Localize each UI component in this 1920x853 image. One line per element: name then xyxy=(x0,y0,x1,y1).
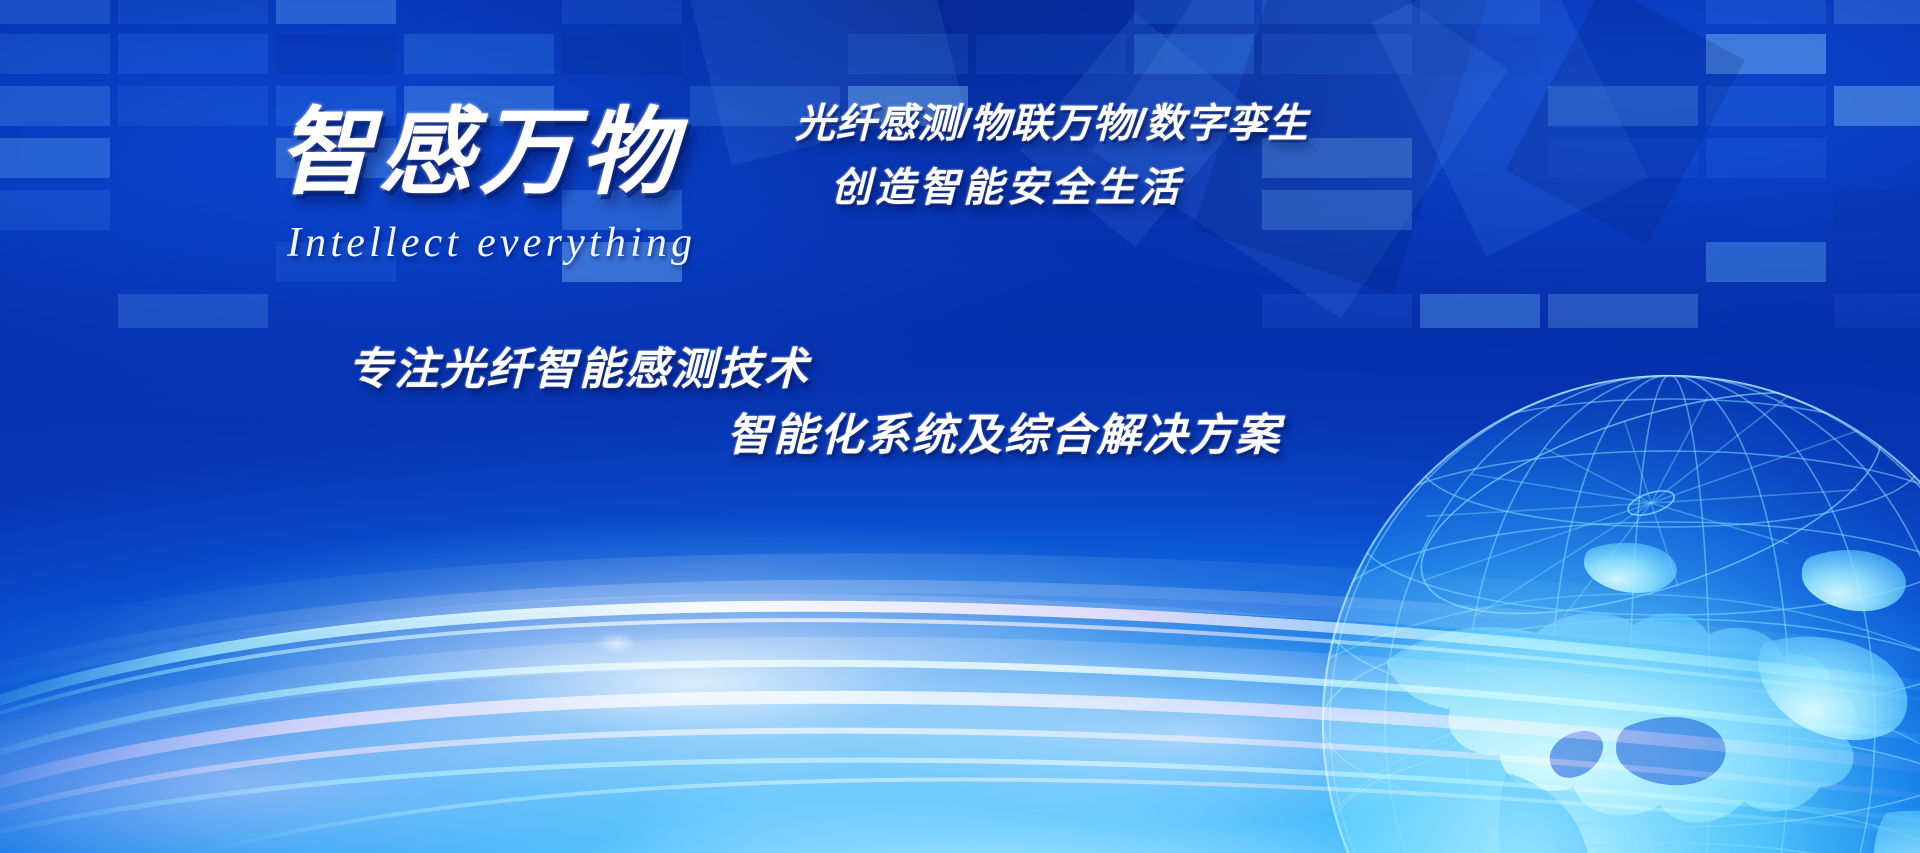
headline-english: Intellect everything xyxy=(287,222,696,264)
tagline-services: 光纤感测/物联万物/数字孪生 xyxy=(795,104,1308,144)
banner-canvas: 智感万物 Intellect everything 光纤感测/物联万物/数字孪生… xyxy=(0,0,1920,853)
tagline-slogan: 创造智能安全生活 xyxy=(831,168,1183,208)
message-focus-technology: 专注光纤智能感测技术 xyxy=(348,348,810,392)
message-solutions: 智能化系统及综合解决方案 xyxy=(727,414,1281,458)
banner-content: 智感万物 Intellect everything 光纤感测/物联万物/数字孪生… xyxy=(0,0,1920,853)
headline-chinese: 智感万物 xyxy=(278,106,681,201)
